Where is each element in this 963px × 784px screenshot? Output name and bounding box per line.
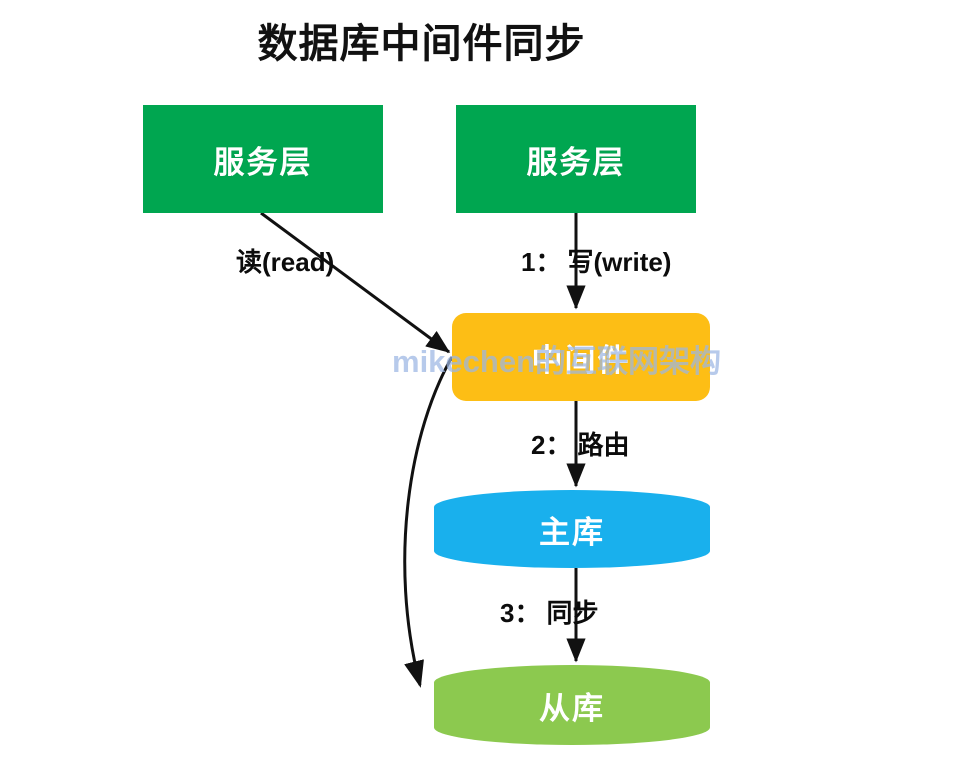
edge-label-route: 2：路由	[531, 432, 629, 458]
edge-label-text: 同步	[546, 598, 598, 628]
edge-label-text: 读(read)	[236, 247, 334, 277]
edge-label-text: 写(write)	[567, 247, 671, 277]
edge-read-line	[261, 213, 449, 352]
edge-step-number: 3：	[500, 598, 540, 628]
edge-label-read: 读(read)	[230, 249, 334, 275]
edge-label-sync: 3：同步	[500, 600, 598, 626]
edge-label-write: 1：写(write)	[521, 249, 671, 275]
page-title: 数据库中间件同步	[0, 22, 843, 66]
edge-step-number: 2：	[531, 430, 571, 460]
edge-label-text: 路由	[577, 430, 629, 460]
node-label: 服务层	[527, 137, 626, 182]
node-master-db[interactable]: 主库	[434, 490, 710, 568]
node-label: 主库	[539, 507, 605, 552]
node-label: 服务层	[214, 137, 313, 182]
node-service-layer-right[interactable]: 服务层	[456, 105, 696, 213]
node-middleware[interactable]: 中间件	[452, 313, 710, 401]
node-slave-db[interactable]: 从库	[434, 665, 710, 745]
diagram-canvas: 数据库中间件同步 服务层 服务层 中间件 主库	[0, 0, 963, 784]
node-label: 从库	[539, 683, 605, 728]
edge-step-number: 1：	[521, 247, 561, 277]
node-service-layer-left[interactable]: 服务层	[143, 105, 383, 213]
node-label: 中间件	[532, 335, 631, 380]
